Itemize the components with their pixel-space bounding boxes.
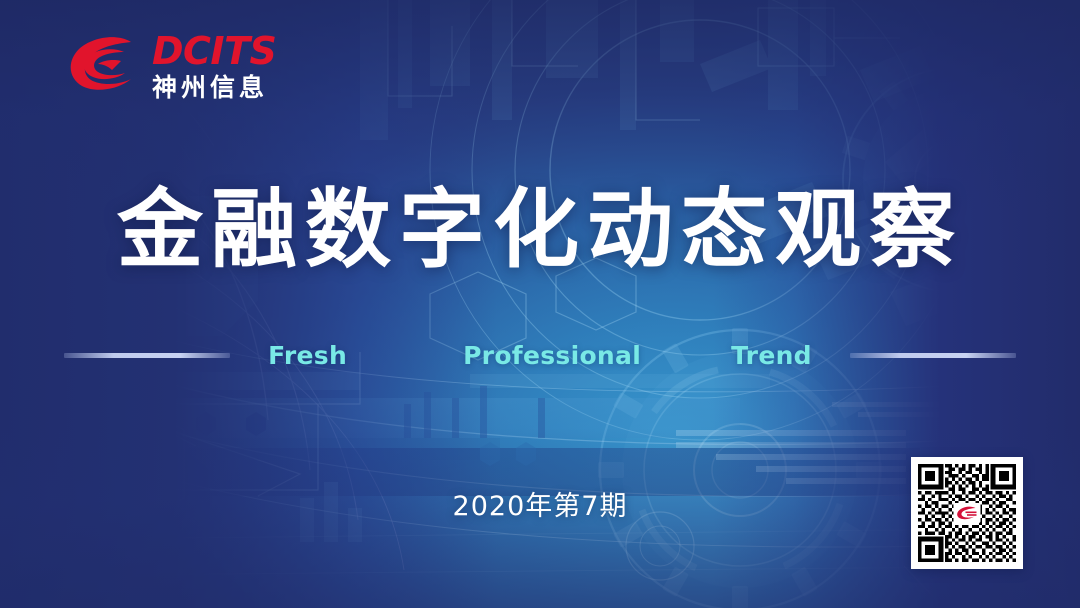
dcits-mini-icon (956, 506, 978, 521)
qr-center-logo (954, 503, 981, 523)
tagline-rule-right (850, 353, 1016, 358)
tagline-word-professional: Professional (463, 341, 641, 370)
brand-logo: DCITS 神州信息 (68, 32, 276, 100)
tagline-word-fresh: Fresh (268, 341, 347, 370)
dcits-swoosh-icon (68, 35, 142, 97)
qr-code[interactable] (911, 457, 1023, 569)
tagline-word-trend: Trend (731, 341, 812, 370)
tagline-row: Fresh Professional Trend (0, 338, 1080, 372)
tagline-rule-left (64, 353, 230, 358)
logo-chinese-name: 神州信息 (152, 75, 276, 100)
page-title: 金融数字化动态观察 (0, 182, 1080, 278)
logo-wordmark: DCITS (152, 32, 276, 70)
poster-root: DCITS 神州信息 金融数字化动态观察 Fresh Professional … (0, 0, 1080, 608)
